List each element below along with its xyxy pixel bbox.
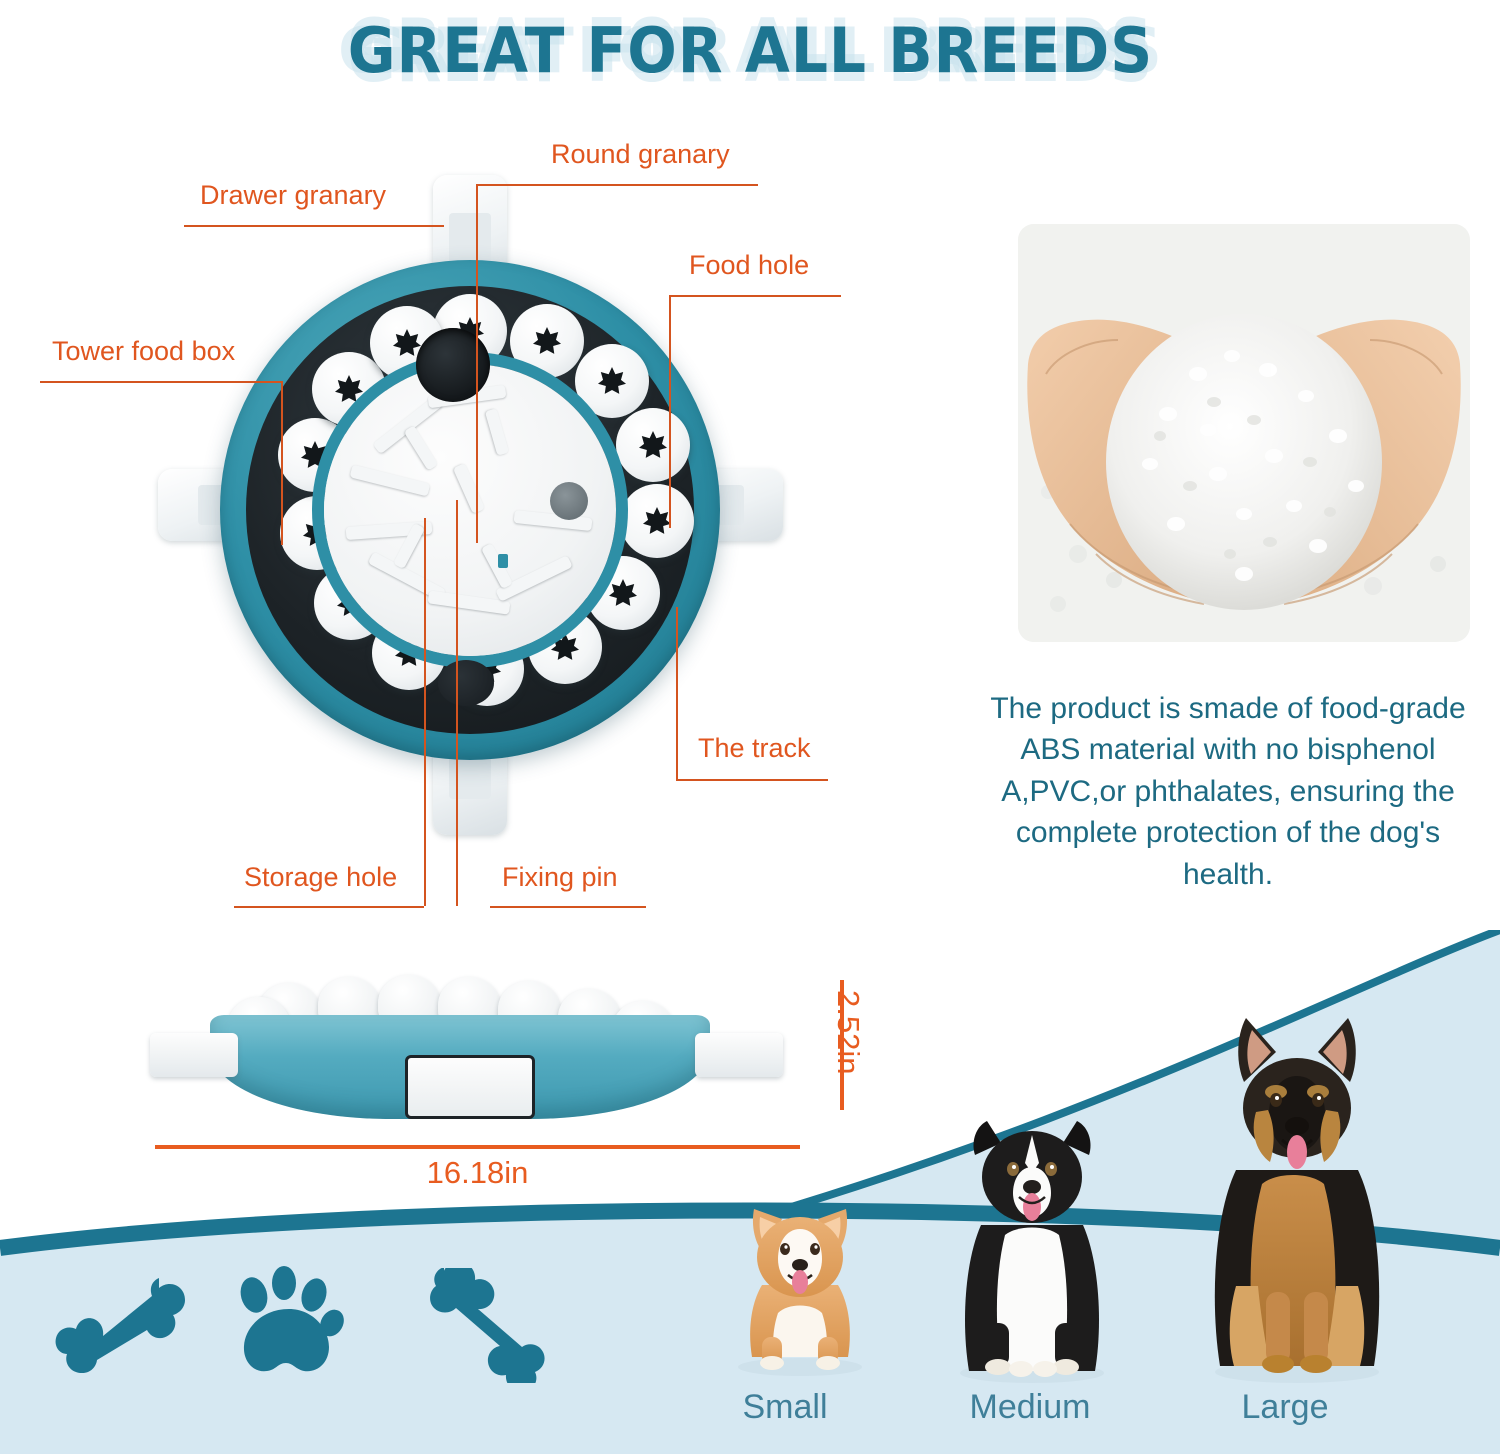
feeder-bowl: [220, 260, 720, 760]
callout-leader-fixing-pin: [456, 500, 458, 906]
callout-rule-food-hole: [669, 295, 841, 297]
callout-food-hole: Food hole: [685, 250, 813, 285]
material-description: The product is smade of food-grade ABS m…: [978, 688, 1478, 895]
breed-label-medium: Medium: [920, 1388, 1140, 1427]
side-suction-tab-left: [150, 1033, 238, 1077]
callout-fixing-pin: Fixing pin: [498, 862, 622, 897]
tower-food-box: [620, 484, 694, 558]
callout-rule-drawer-granary: [184, 225, 444, 227]
callout-leader-tower-food-box: [281, 381, 283, 545]
breed-label-small: Small: [675, 1388, 895, 1427]
callout-the-track: The track: [694, 733, 815, 768]
callout-tower-food-box: Tower food box: [48, 336, 239, 371]
callout-rule-tower-food-box: [40, 381, 283, 383]
dog-image-large: [1180, 1000, 1415, 1385]
breed-label-large: Large: [1175, 1388, 1395, 1427]
callout-leader-storage-hole: [424, 518, 426, 906]
callout-rule-storage-hole: [234, 906, 424, 908]
page-title: GREAT FOR ALL BREEDS: [347, 14, 1152, 87]
callout-leader-food-hole: [669, 295, 671, 528]
callout-leader-the-track: [676, 607, 678, 779]
tower-food-box: [510, 304, 584, 378]
callout-storage-hole: Storage hole: [240, 862, 401, 897]
bone-icon: [420, 1268, 570, 1383]
material-photo: [1018, 224, 1470, 642]
callout-leader-round-granary: [476, 184, 478, 543]
tower-food-box: [616, 408, 690, 482]
callout-rule-round-granary: [476, 184, 758, 186]
callout-rule-fixing-pin: [490, 906, 646, 908]
paw-icon: [232, 1265, 347, 1375]
callout-rule-the-track: [676, 779, 828, 781]
tower-food-box: [575, 344, 649, 418]
callout-drawer-granary: Drawer granary: [196, 180, 390, 215]
track-marker: [550, 482, 588, 520]
dog-image-medium: [925, 1085, 1140, 1385]
food-hole: [416, 328, 490, 402]
storage-hole: [438, 660, 494, 706]
bone-icon: [55, 1278, 185, 1373]
side-drawer-granary: [405, 1055, 535, 1119]
callout-round-granary: Round granary: [547, 139, 734, 174]
page-header: GREAT FOR ALL BREEDS: [0, 0, 1500, 100]
dog-image-small: [700, 1185, 900, 1380]
fixing-pin-marker: [498, 554, 508, 568]
